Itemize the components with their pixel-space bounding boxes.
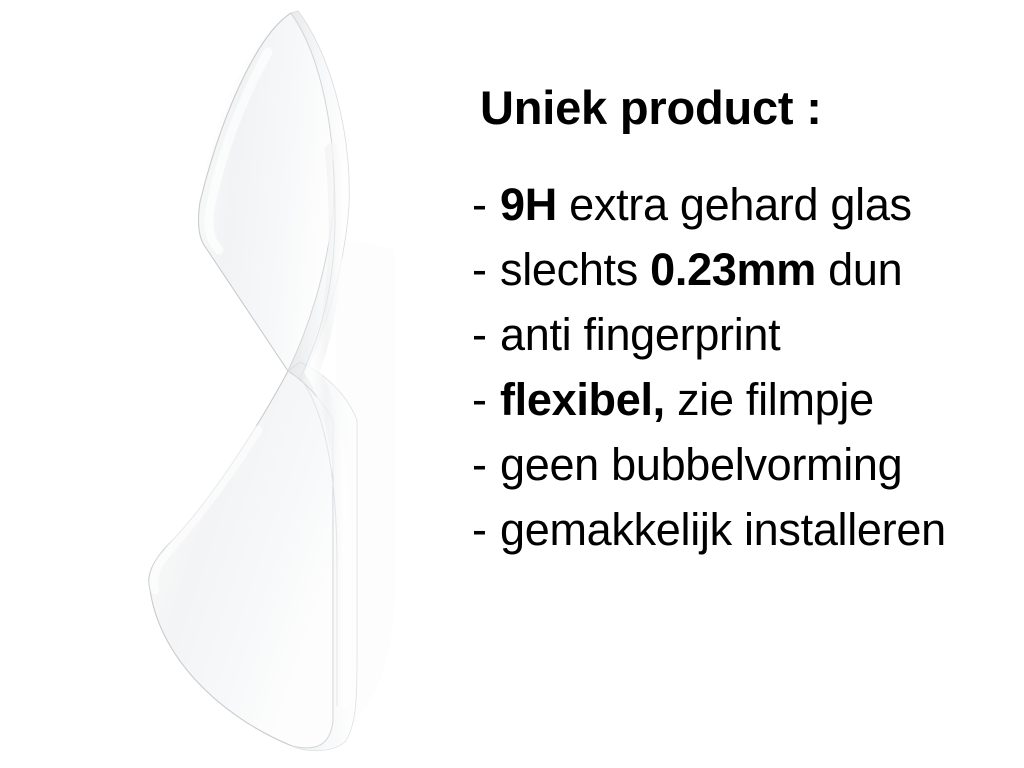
feature-list: -9H extra gehard glas-slechts 0.23mm dun… xyxy=(472,174,1024,564)
bullet-dash-icon: - xyxy=(472,434,500,496)
feature-text: gemakkelijk installeren xyxy=(500,504,946,555)
product-feature-slide: Uniek product : -9H extra gehard glas-sl… xyxy=(0,0,1024,768)
feature-list-item: -geen bubbelvorming xyxy=(472,434,1024,499)
feature-list-item: -slechts 0.23mm dun xyxy=(472,239,1024,304)
bullet-dash-icon: - xyxy=(472,174,500,236)
feature-list-item: -9H extra gehard glas xyxy=(472,174,1024,239)
feature-text: geen bubbelvorming xyxy=(500,439,902,490)
feature-emphasis: flexibel, xyxy=(500,374,665,425)
feature-list-item: -flexibel, zie filmpje xyxy=(472,369,1024,434)
feature-text: anti fingerprint xyxy=(500,309,780,360)
feature-text: zie filmpje xyxy=(665,374,874,425)
feature-text: extra gehard glas xyxy=(557,179,912,230)
product-image xyxy=(0,0,460,768)
bullet-dash-icon: - xyxy=(472,369,500,431)
feature-text: dun xyxy=(816,244,902,295)
feature-emphasis: 0.23mm xyxy=(650,244,816,295)
feature-text: slechts xyxy=(500,244,650,295)
bullet-dash-icon: - xyxy=(472,304,500,366)
feature-list-item: -anti fingerprint xyxy=(472,304,1024,369)
feature-list-item: -gemakkelijk installeren xyxy=(472,499,1024,564)
bullet-dash-icon: - xyxy=(472,499,500,561)
bullet-dash-icon: - xyxy=(472,239,500,301)
feature-emphasis: 9H xyxy=(500,179,557,230)
page-title: Uniek product : xyxy=(480,83,822,132)
glass-lower-lobe xyxy=(149,371,333,748)
copy-column: Uniek product : -9H extra gehard glas-sl… xyxy=(472,0,1024,768)
